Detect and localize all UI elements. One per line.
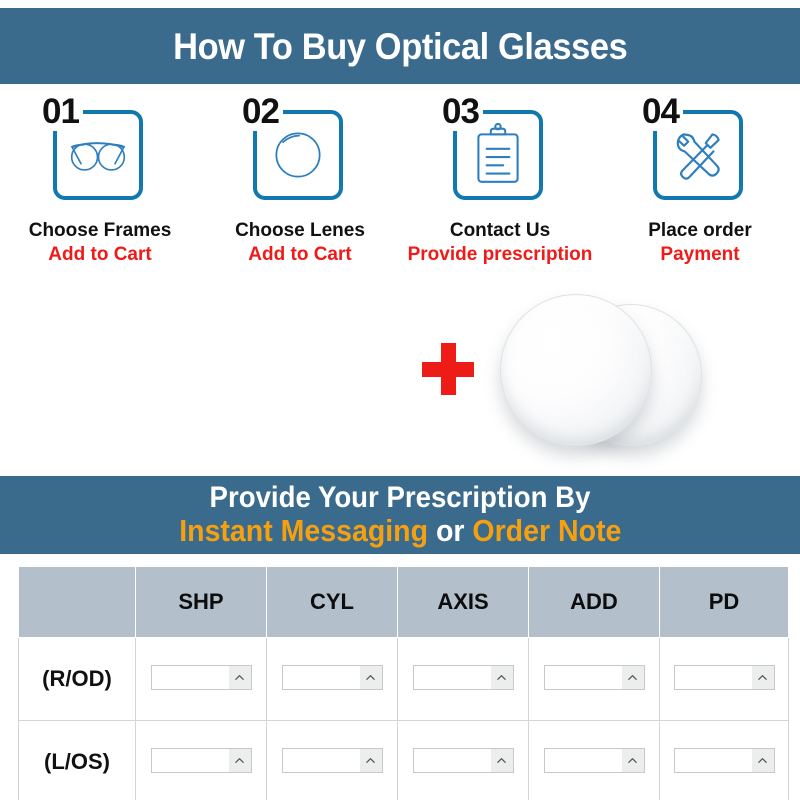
- select-left-cyl[interactable]: [282, 748, 383, 773]
- promo-page: How To Buy Optical Glasses 01: [0, 0, 800, 800]
- eyeglasses-icon: [65, 122, 131, 188]
- connector-label: or: [428, 513, 472, 548]
- chevron-up-icon[interactable]: [229, 666, 251, 689]
- select-right-axis[interactable]: [413, 665, 514, 690]
- steps-row: 01 Choose Frames Add to Cart: [0, 96, 800, 291]
- cell-right-axis: [398, 638, 529, 721]
- chevron-up-icon[interactable]: [360, 749, 382, 772]
- plus-icon: [422, 343, 474, 395]
- step-item-04[interactable]: 04 Place order Payment: [600, 96, 800, 291]
- row-label-left-eye: (L/OS): [19, 721, 136, 800]
- step-number-04: 04: [641, 94, 680, 131]
- row-label-right-eye: (R/OD): [19, 638, 136, 721]
- step-item-03[interactable]: 03 Contact Us Provide prescription: [400, 96, 600, 291]
- select-value-right-cyl: [283, 666, 360, 689]
- step-icon-wrap-01: 01: [41, 96, 159, 204]
- table-corner-header: [19, 567, 136, 638]
- step-number-03: 03: [441, 94, 480, 131]
- chevron-up-icon[interactable]: [752, 666, 774, 689]
- select-right-shp[interactable]: [151, 665, 252, 690]
- step-number-01: 01: [41, 94, 80, 131]
- select-value-right-axis: [414, 666, 491, 689]
- chevron-up-icon[interactable]: [229, 749, 251, 772]
- prescription-banner-line2: Instant Messaging or Order Note: [179, 515, 621, 548]
- select-value-right-pd: [675, 666, 752, 689]
- lens-illustration-area: [400, 288, 800, 474]
- step-sublabel-03: Provide prescription: [408, 244, 593, 266]
- table-row-right-eye: (R/OD): [19, 638, 789, 721]
- prescription-table: SHP CYL AXIS ADD PD (R/OD): [18, 566, 789, 800]
- prescription-table-body: (R/OD): [19, 638, 789, 800]
- column-header-pd: PD: [660, 567, 789, 638]
- column-header-add: ADD: [529, 567, 660, 638]
- hammer-wrench-icon: [665, 122, 731, 188]
- select-left-axis[interactable]: [413, 748, 514, 773]
- chevron-up-icon[interactable]: [491, 666, 513, 689]
- step-sublabel-02: Add to Cart: [248, 244, 351, 266]
- table-row-left-eye: (L/OS): [19, 721, 789, 800]
- chevron-up-icon[interactable]: [491, 749, 513, 772]
- select-value-right-add: [545, 666, 622, 689]
- select-value-left-pd: [675, 749, 752, 772]
- chevron-up-icon[interactable]: [752, 749, 774, 772]
- select-value-left-add: [545, 749, 622, 772]
- column-header-axis: AXIS: [398, 567, 529, 638]
- step-icon-wrap-04: 04: [641, 96, 759, 204]
- page-title: How To Buy Optical Glasses: [173, 28, 627, 65]
- select-right-pd[interactable]: [674, 665, 775, 690]
- select-left-shp[interactable]: [151, 748, 252, 773]
- clipboard-icon: [465, 122, 531, 188]
- step-icon-wrap-03: 03: [441, 96, 559, 204]
- chevron-up-icon[interactable]: [360, 666, 382, 689]
- step-icon-wrap-02: 02: [241, 96, 359, 204]
- step-label-02: Choose Lenes: [235, 220, 365, 242]
- prescription-banner: Provide Your Prescription By Instant Mes…: [0, 476, 800, 554]
- lens-circle-icon: [265, 122, 331, 188]
- select-value-left-cyl: [283, 749, 360, 772]
- table-header-row: SHP CYL AXIS ADD PD: [19, 567, 789, 638]
- select-value-left-axis: [414, 749, 491, 772]
- select-right-add[interactable]: [544, 665, 645, 690]
- cell-left-shp: [136, 721, 267, 800]
- select-value-right-shp: [152, 666, 229, 689]
- cell-left-pd: [660, 721, 789, 800]
- step-sublabel-04: Payment: [660, 244, 739, 266]
- cell-right-add: [529, 638, 660, 721]
- cell-right-cyl: [267, 638, 398, 721]
- step-number-02: 02: [241, 94, 280, 131]
- cell-right-pd: [660, 638, 789, 721]
- column-header-cyl: CYL: [267, 567, 398, 638]
- step-item-01[interactable]: 01 Choose Frames Add to Cart: [0, 96, 200, 291]
- select-value-left-shp: [152, 749, 229, 772]
- select-left-add[interactable]: [544, 748, 645, 773]
- step-item-02[interactable]: 02 Choose Lenes Add to Cart: [200, 96, 400, 291]
- instant-messaging-label: Instant Messaging: [179, 513, 428, 548]
- step-label-01: Choose Frames: [29, 220, 172, 242]
- select-right-cyl[interactable]: [282, 665, 383, 690]
- column-header-shp: SHP: [136, 567, 267, 638]
- step-sublabel-01: Add to Cart: [48, 244, 151, 266]
- cell-left-cyl: [267, 721, 398, 800]
- chevron-up-icon[interactable]: [622, 749, 644, 772]
- select-left-pd[interactable]: [674, 748, 775, 773]
- lens-front-image: [500, 294, 652, 446]
- step-label-04: Place order: [648, 220, 752, 242]
- cell-right-shp: [136, 638, 267, 721]
- prescription-banner-line1: Provide Your Prescription By: [210, 483, 591, 514]
- top-banner: How To Buy Optical Glasses: [0, 8, 800, 84]
- cell-left-add: [529, 721, 660, 800]
- prescription-table-head: SHP CYL AXIS ADD PD: [19, 567, 789, 638]
- cell-left-axis: [398, 721, 529, 800]
- chevron-up-icon[interactable]: [622, 666, 644, 689]
- step-label-03: Contact Us: [450, 220, 550, 242]
- order-note-label: Order Note: [472, 513, 621, 548]
